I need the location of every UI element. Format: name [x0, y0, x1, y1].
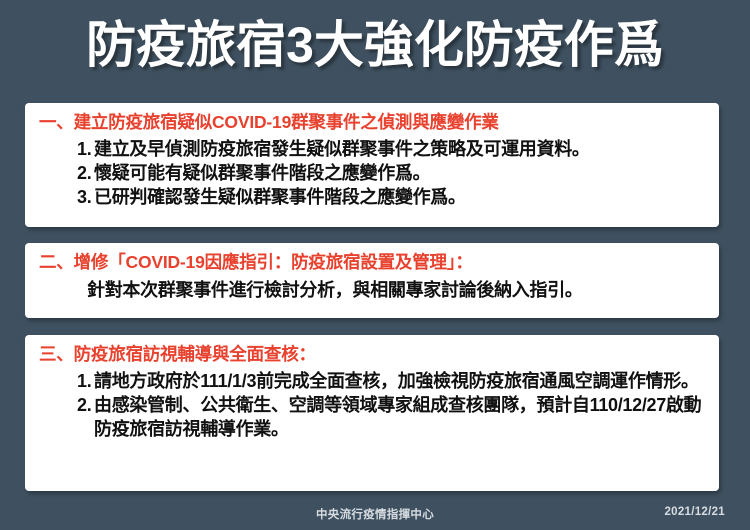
list-item-text: 請地方政府於111/1/3前完成全面查核，加強檢視防疫旅宿通風空調運作情形。	[94, 369, 705, 393]
section-1-heading: 一、建立防疫旅宿疑似COVID-19群聚事件之偵測與應變作業	[39, 111, 705, 135]
poster-root: 防疫旅宿3大強化防疫作爲 一、建立防疫旅宿疑似COVID-19群聚事件之偵測與應…	[0, 0, 750, 530]
list-item-text: 由感染管制、公共衛生、空調等領域專家組成查核團隊，預計自110/12/27啟動防…	[94, 393, 705, 441]
list-item: 1. 請地方政府於111/1/3前完成全面查核，加強檢視防疫旅宿通風空調運作情形…	[77, 369, 705, 393]
list-item: 3. 已研判確認發生疑似群聚事件階段之應變作爲。	[77, 185, 705, 209]
list-item: 2. 懷疑可能有疑似群聚事件階段之應變作爲。	[77, 161, 705, 185]
footer-organization: 中央流行疫情指揮中心	[0, 506, 750, 522]
section-3-heading: 三、防疫旅宿訪視輔導與全面查核：	[39, 343, 705, 367]
footer-date: 2021/12/21	[664, 506, 725, 518]
list-item-number: 1.	[77, 137, 94, 161]
section-3-list: 1. 請地方政府於111/1/3前完成全面查核，加強檢視防疫旅宿通風空調運作情形…	[39, 369, 705, 441]
page-title: 防疫旅宿3大強化防疫作爲	[86, 18, 664, 72]
list-item-number: 3.	[77, 185, 94, 209]
section-1-list: 1. 建立及早偵測防疫旅宿發生疑似群聚事件之策略及可運用資料。 2. 懷疑可能有…	[39, 137, 705, 209]
section-card-3: 三、防疫旅宿訪視輔導與全面查核： 1. 請地方政府於111/1/3前完成全面查核…	[25, 335, 719, 491]
section-2-body-text: 針對本次群聚事件進行檢討分析，與相關專家討論後納入指引。	[87, 278, 705, 302]
list-item-number: 2.	[77, 161, 94, 185]
list-item: 2. 由感染管制、公共衛生、空調等領域專家組成查核團隊，預計自110/12/27…	[77, 393, 705, 441]
list-item-text: 已研判確認發生疑似群聚事件階段之應變作爲。	[94, 185, 705, 209]
poster-title-container: 防疫旅宿3大強化防疫作爲	[0, 18, 750, 72]
list-item: 1. 建立及早偵測防疫旅宿發生疑似群聚事件之策略及可運用資料。	[77, 137, 705, 161]
list-item-text: 懷疑可能有疑似群聚事件階段之應變作爲。	[94, 161, 705, 185]
list-item-number: 2.	[77, 393, 94, 417]
list-item-text: 建立及早偵測防疫旅宿發生疑似群聚事件之策略及可運用資料。	[94, 137, 705, 161]
section-card-2: 二、增修「COVID-19因應指引：防疫旅宿設置及管理」： 針對本次群聚事件進行…	[25, 243, 719, 318]
section-card-1: 一、建立防疫旅宿疑似COVID-19群聚事件之偵測與應變作業 1. 建立及早偵測…	[25, 103, 719, 227]
section-2-heading: 二、增修「COVID-19因應指引：防疫旅宿設置及管理」：	[39, 251, 705, 275]
footer-bar: 中央流行疫情指揮中心 2021/12/21	[0, 498, 750, 530]
list-item-number: 1.	[77, 369, 94, 393]
